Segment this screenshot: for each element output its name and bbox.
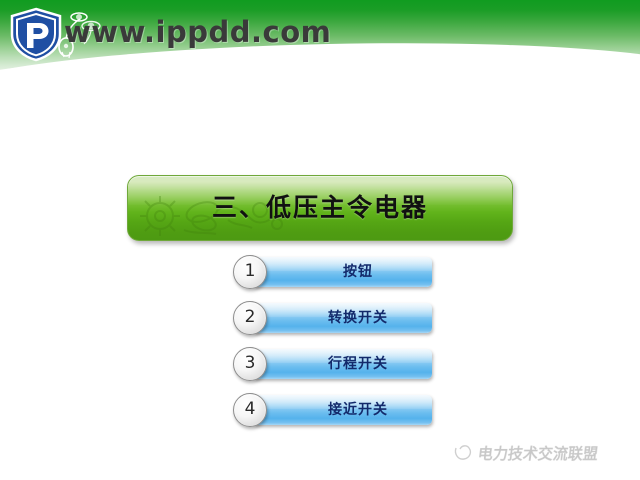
list-item-label: 行程开关 — [283, 349, 433, 379]
list-item[interactable]: 接近开关 4 — [233, 393, 433, 427]
list-item-label: 转换开关 — [283, 303, 433, 333]
watermark-text: 电力技术交流联盟 — [477, 443, 600, 464]
list-item[interactable]: 转换开关 2 — [233, 301, 433, 335]
list-item-number: 3 — [233, 347, 267, 381]
list-item[interactable]: 行程开关 3 — [233, 347, 433, 381]
list-item-label: 按钮 — [283, 257, 433, 287]
topic-list: 按钮 1 转换开关 2 行程开关 3 接近开关 4 — [233, 255, 433, 439]
shield-p-logo-icon — [8, 6, 64, 62]
list-item-number: 1 — [233, 255, 267, 289]
presentation-slide: www.ippdd.com 三、低压主令电器 — [0, 0, 640, 480]
list-item-number: 2 — [233, 301, 267, 335]
list-item[interactable]: 按钮 1 — [233, 255, 433, 289]
section-title-plaque: 三、低压主令电器 — [127, 175, 513, 241]
list-item-number: 4 — [233, 393, 267, 427]
watermark: 电力技术交流联盟 — [452, 440, 632, 468]
site-url-text: www.ippdd.com — [64, 15, 331, 49]
list-item-label: 接近开关 — [283, 395, 433, 425]
section-title-text: 三、低压主令电器 — [128, 176, 512, 240]
